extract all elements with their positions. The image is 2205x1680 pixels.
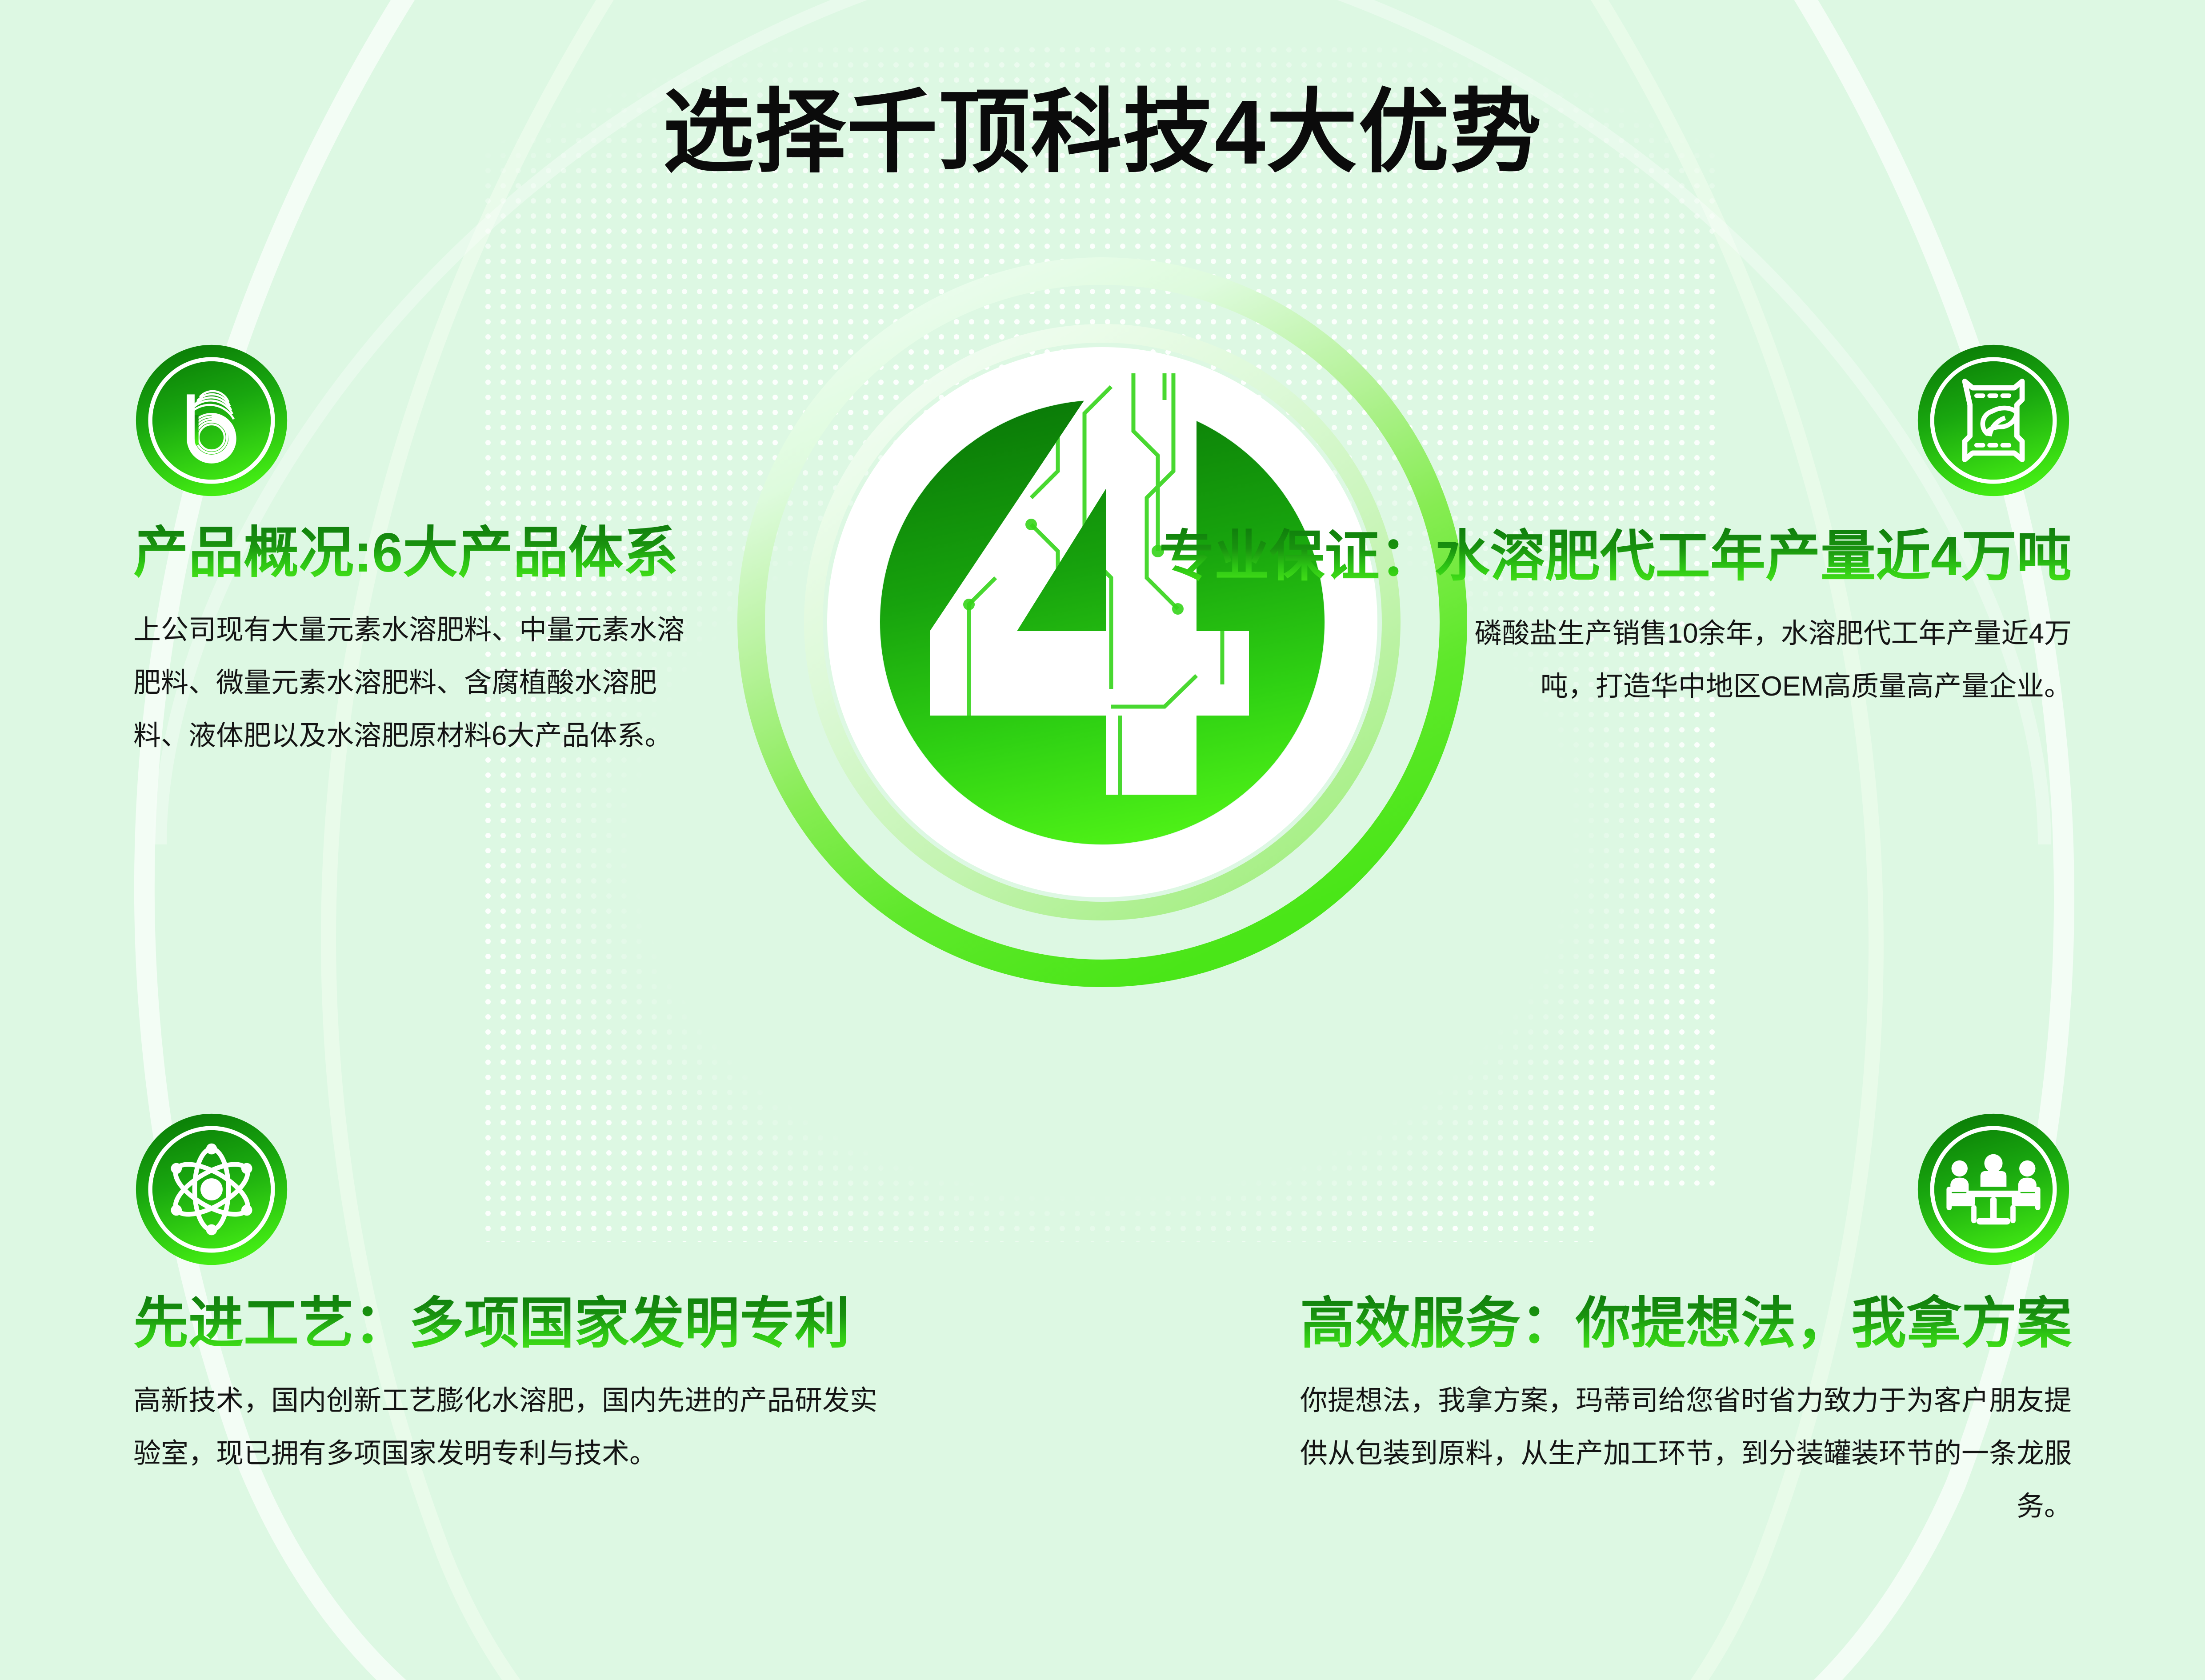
fertilizer-bag-icon: [1915, 342, 2072, 499]
quadrant-top-right: 专业保证：水溶肥代工年产量近4万吨 磷酸盐生产销售10余年，水溶肥代工年产量近4…: [1147, 342, 2072, 713]
atom-icon: [133, 1111, 290, 1268]
meeting-people-icon: [1915, 1111, 2072, 1268]
quadrant-heading: 高效服务：你提想法，我拿方案: [1272, 1294, 2072, 1354]
infographic-canvas: 选择千顶科技4大优势: [0, 0, 2205, 1680]
page-title: 选择千顶科技4大优势: [0, 87, 2205, 178]
quadrant-bottom-left: 先进工艺：多项国家发明专利 高新技术，国内创新工艺膨化水溶肥，国内先进的产品研发…: [133, 1111, 889, 1480]
number-six-badge-icon: [133, 342, 290, 499]
quadrant-body-text: 高新技术，国内创新工艺膨化水溶肥，国内先进的产品研发实验室，现已拥有多项国家发明…: [133, 1374, 880, 1480]
quadrant-body-text: 磷酸盐生产销售10余年，水溶肥代工年产量近4万吨，打造华中地区OEM高质量高产量…: [1445, 607, 2072, 713]
quadrant-top-left: 产品概况:6大产品体系 上公司现有大量元素水溶肥料、中量元素水溶肥料、微量元素水…: [133, 342, 711, 762]
quadrant-heading: 产品概况:6大产品体系: [133, 524, 711, 583]
quadrant-body-text: 你提想法，我拿方案，玛蒂司给您省时省力致力于为客户朋友提供从包装到原料，从生产加…: [1276, 1374, 2072, 1533]
quadrant-body-text: 上公司现有大量元素水溶肥料、中量元素水溶肥料、微量元素水溶肥料、含腐植酸水溶肥料…: [133, 604, 691, 762]
quadrant-heading: 专业保证：水溶肥代工年产量近4万吨: [1147, 527, 2072, 587]
quadrant-bottom-right: 高效服务：你提想法，我拿方案 你提想法，我拿方案，玛蒂司给您省时省力致力于为客户…: [1272, 1111, 2072, 1533]
quadrant-heading: 先进工艺：多项国家发明专利: [133, 1294, 889, 1354]
